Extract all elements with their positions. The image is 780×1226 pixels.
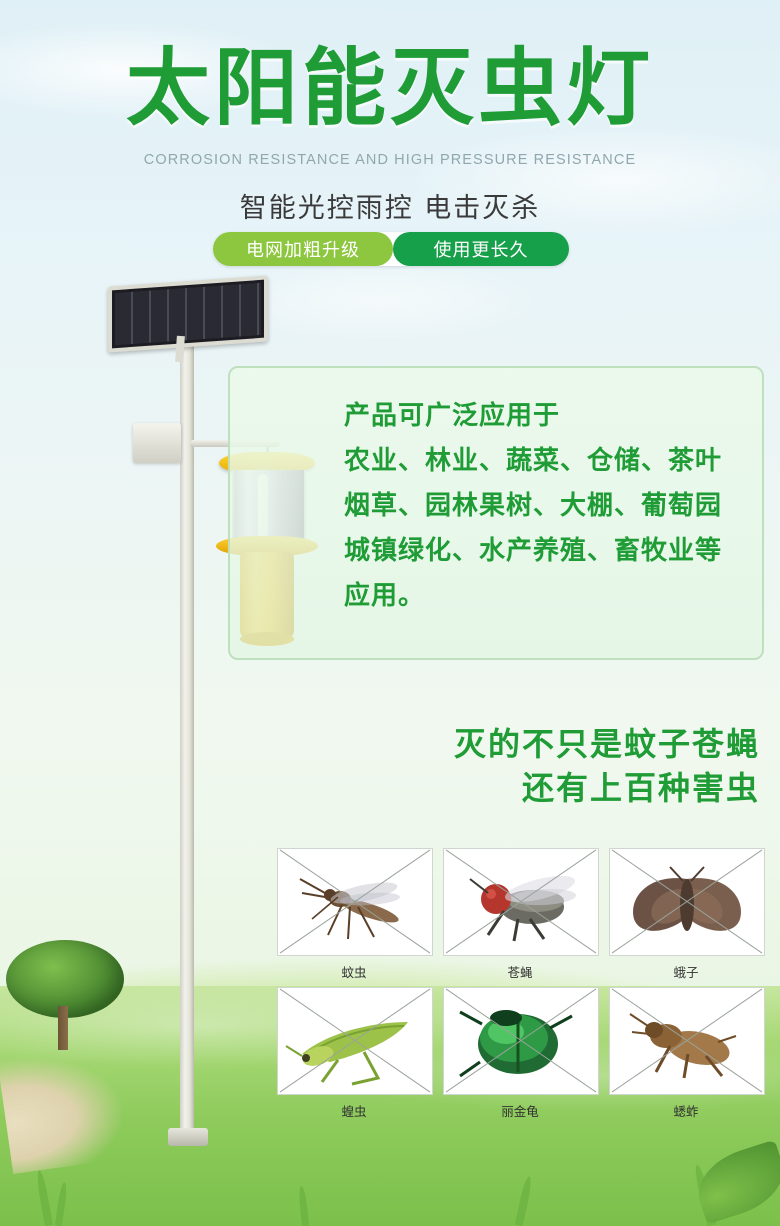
application-line-3: 烟草、园林果树、大棚、葡萄园 xyxy=(344,484,754,529)
pest-caption: 丽金龟 xyxy=(443,1101,597,1120)
tree-decoration xyxy=(6,940,126,1050)
solar-cell-grid xyxy=(115,283,261,345)
pest-grid: 蚊虫 苍蝇 xyxy=(277,848,763,1126)
pest-caption: 蚊虫 xyxy=(277,962,431,981)
pest-thumbnail xyxy=(443,848,599,956)
solar-panel-part xyxy=(108,275,268,352)
pest-thumbnail xyxy=(609,987,765,1095)
pest-caption: 苍蝇 xyxy=(443,962,597,981)
pest-headline-line-1: 灭的不只是蚊子苍蝇 xyxy=(0,722,760,766)
pest-thumbnail xyxy=(277,848,433,956)
pest-grid-row: 蚊虫 苍蝇 xyxy=(277,848,763,981)
pole-base-part xyxy=(168,1128,208,1146)
pest-headline-line-2: 还有上百种害虫 xyxy=(0,766,760,810)
application-line-1: 产品可广泛应用于 xyxy=(344,394,754,439)
page-title: 太阳能灭虫灯 xyxy=(0,46,780,130)
pest-caption: 蝗虫 xyxy=(277,1101,431,1120)
pest-caption: 蟋蚱 xyxy=(609,1101,763,1120)
pest-thumbnail xyxy=(443,987,599,1095)
pest-cell-mosquito: 蚊虫 xyxy=(277,848,431,981)
pest-grid-row: 蝗虫 丽金龟 xyxy=(277,987,763,1120)
feature-pill-1: 电网加粗升级 xyxy=(213,232,393,266)
pest-thumbnail xyxy=(609,848,765,956)
pest-cell-mole-cricket: 蟋蚱 xyxy=(609,987,763,1120)
pest-headline: 灭的不只是蚊子苍蝇 还有上百种害虫 xyxy=(0,722,760,810)
application-line-5: 应用。 xyxy=(344,574,754,619)
control-box-part xyxy=(133,423,181,463)
tree-trunk xyxy=(58,1006,68,1050)
feature-pill-group: 电网加粗升级 使用更长久 xyxy=(213,232,569,266)
pest-cell-moth: 蛾子 xyxy=(609,848,763,981)
page-subtitle-en: CORROSION RESISTANCE AND HIGH PRESSURE R… xyxy=(0,152,780,168)
page-subtitle-cn: 智能光控雨控 电击灭杀 xyxy=(0,186,780,225)
application-line-2: 农业、林业、蔬菜、仓储、茶叶 xyxy=(344,439,754,484)
pest-caption: 蛾子 xyxy=(609,962,763,981)
pest-cell-locust: 蝗虫 xyxy=(277,987,431,1120)
pest-thumbnail xyxy=(277,987,433,1095)
application-line-4: 城镇绿化、水产养殖、畜牧业等 xyxy=(344,529,754,574)
pest-cell-fly: 苍蝇 xyxy=(443,848,597,981)
application-text: 产品可广泛应用于 农业、林业、蔬菜、仓储、茶叶 烟草、园林果树、大棚、葡萄园 城… xyxy=(344,394,754,619)
feature-pill-2: 使用更长久 xyxy=(393,232,569,266)
pest-cell-beetle: 丽金龟 xyxy=(443,987,597,1120)
